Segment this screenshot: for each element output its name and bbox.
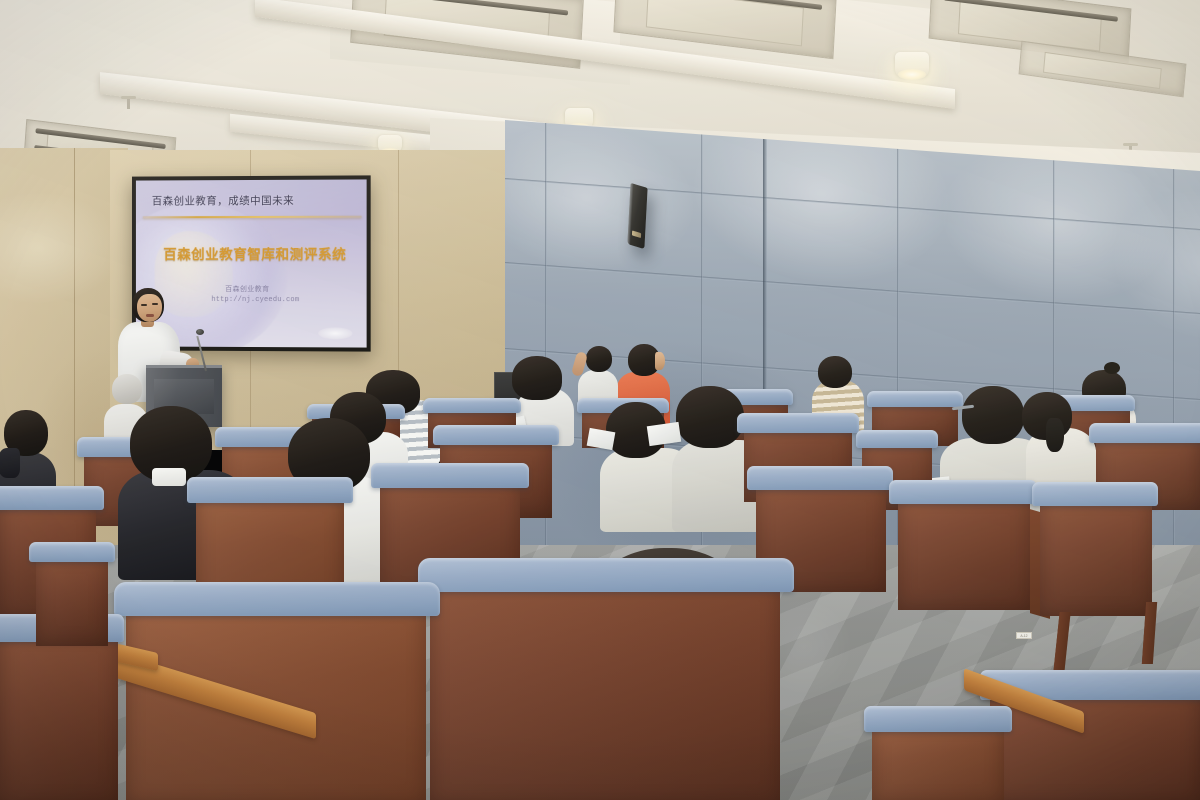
audience-ponytail	[1046, 418, 1064, 452]
presenter-face	[137, 294, 162, 322]
slide-tagline: 百森创业教育，成绩中国未来	[152, 192, 294, 208]
auditorium-seat[interactable]	[1040, 496, 1152, 616]
auditorium-seat[interactable]	[36, 554, 108, 646]
shirt-collar	[152, 468, 186, 486]
slide-divider-rule	[143, 216, 362, 219]
fire-sprinkler	[127, 96, 130, 109]
auditorium-seat[interactable]	[0, 632, 118, 800]
seat-number-label: A-12	[1016, 632, 1032, 639]
slide-main-title: 百森创业教育智库和测评系统	[163, 243, 346, 263]
slide-url: http://nj.cyeedu.com	[211, 296, 299, 304]
lecture-hall-photo: 百森创业教育，成绩中国未来 百森创业教育智库和测评系统 百森创业教育 http:…	[0, 0, 1200, 800]
wall-speaker	[627, 183, 647, 249]
audience-hair	[112, 374, 142, 404]
projection-screen-surface: 百森创业教育，成绩中国未来 百森创业教育智库和测评系统 百森创业教育 http:…	[136, 179, 367, 347]
auditorium-seat[interactable]	[872, 722, 1004, 800]
audience-hair-bun	[1104, 362, 1120, 374]
ceiling-downlight	[895, 52, 929, 78]
screen-glare	[318, 327, 352, 339]
auditorium-seat[interactable]	[430, 580, 780, 800]
slide-organization: 百森创业教育	[225, 284, 269, 294]
microphone-capsule	[196, 329, 204, 335]
auditorium-seat[interactable]	[898, 494, 1030, 610]
audience-ponytail	[0, 448, 20, 478]
